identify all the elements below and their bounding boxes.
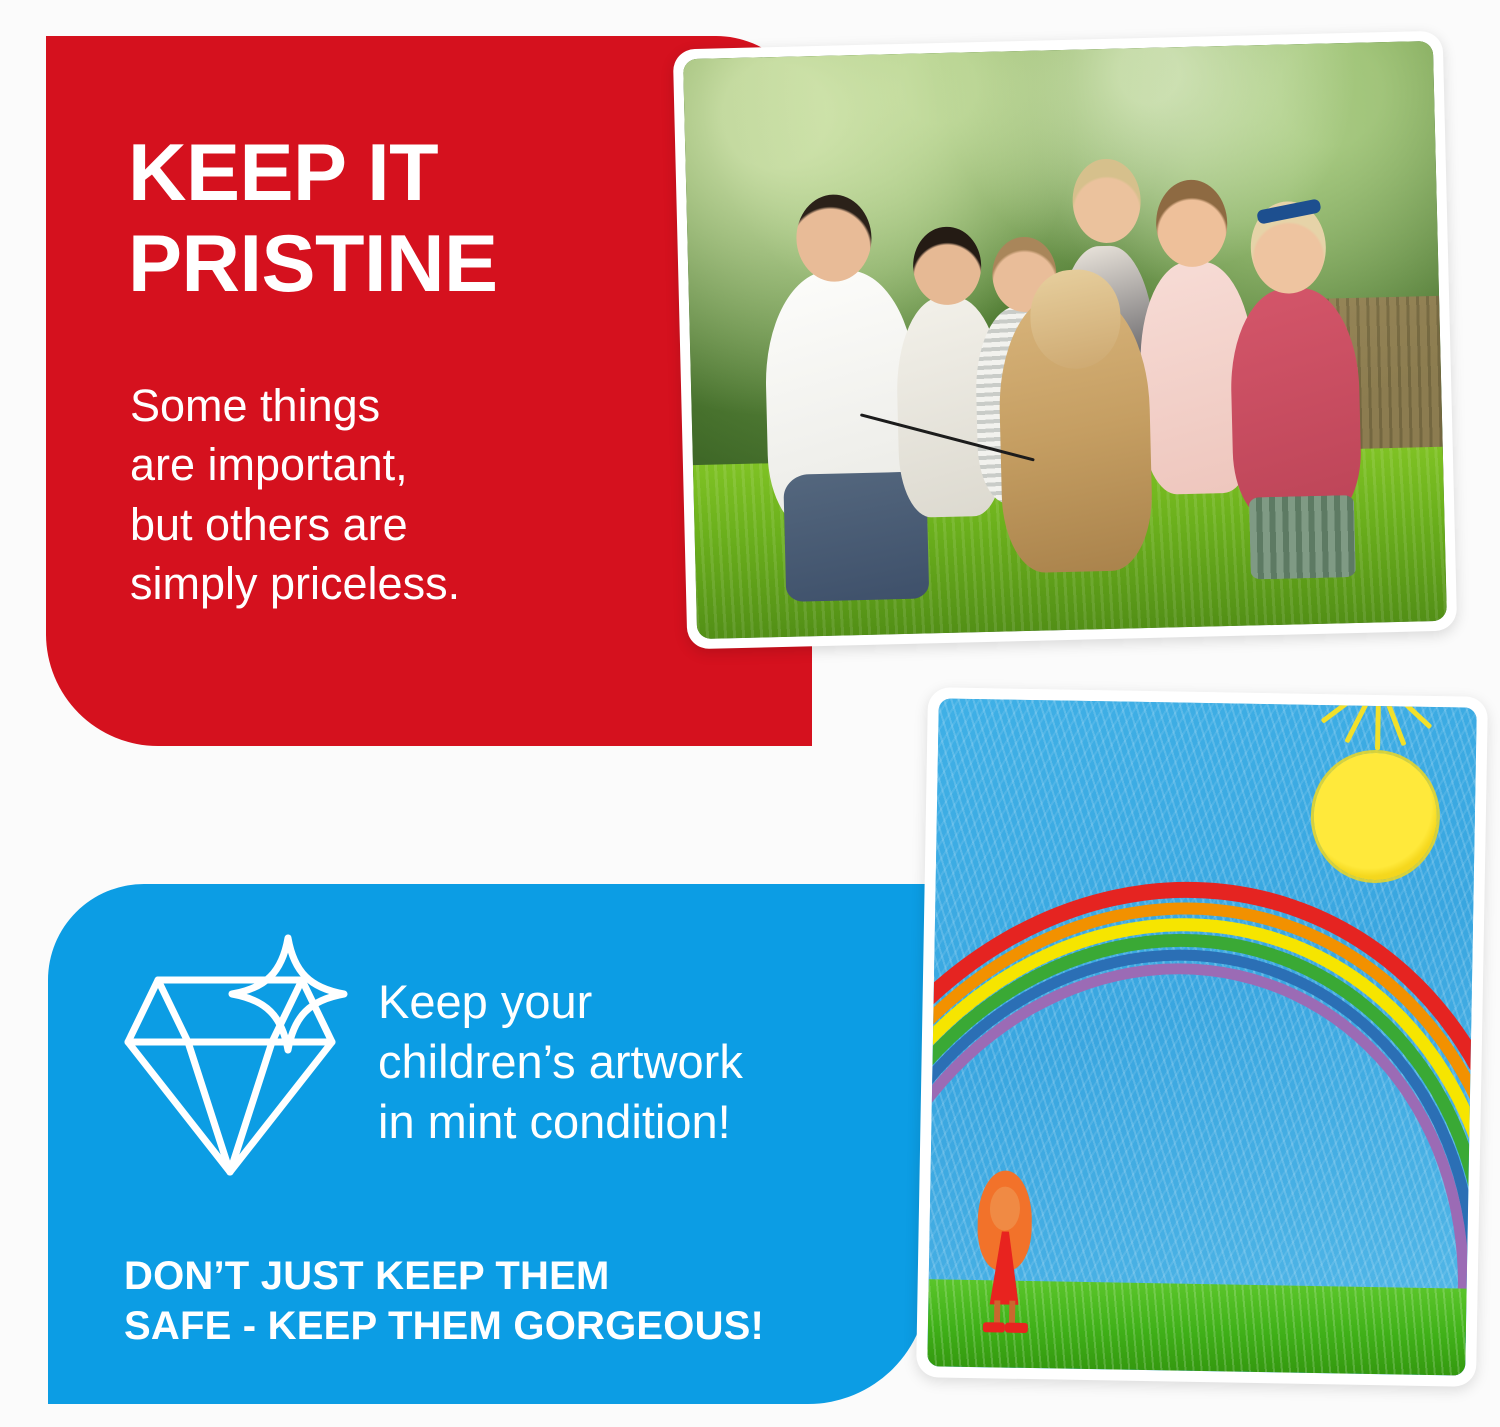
family-with-dog-photo <box>673 31 1457 650</box>
red-body-line-2: are important, <box>130 435 690 494</box>
infographic-page: KEEP IT PRISTINE Some things are importa… <box>0 0 1500 1427</box>
red-body-line-3: but others are <box>130 495 690 554</box>
drawing-girl-leg-left <box>994 1301 1000 1325</box>
red-headline-line-2: PRISTINE <box>128 219 748 310</box>
blue-body-copy: Keep your children’s artwork in mint con… <box>378 972 908 1152</box>
diamond-sparkle-icon <box>120 932 360 1182</box>
photo-person-young-girl <box>1229 286 1362 521</box>
red-body-line-4: simply priceless. <box>130 554 690 613</box>
red-body-line-1: Some things <box>130 376 690 435</box>
drawing-girl-shoe-left <box>983 1322 1006 1333</box>
blue-body-line-1: Keep your <box>378 972 908 1032</box>
childrens-crayon-drawing <box>916 687 1488 1387</box>
red-headline-line-1: KEEP IT <box>128 128 748 219</box>
blue-body-line-3: in mint condition! <box>378 1092 908 1152</box>
blue-promo-panel: Keep your children’s artwork in mint con… <box>48 884 928 1404</box>
blue-tagline-line-2: SAFE - KEEP THEM GORGEOUS! <box>124 1302 924 1352</box>
photo-image <box>683 41 1447 639</box>
red-headline: KEEP IT PRISTINE <box>128 128 748 309</box>
photo-plaid-shorts <box>1249 495 1356 579</box>
drawing-girl-leg-right <box>1009 1301 1015 1325</box>
red-body-copy: Some things are important, but others ar… <box>130 376 690 614</box>
blue-tagline-line-1: DON’T JUST KEEP THEM <box>124 1252 924 1302</box>
blue-tagline: DON’T JUST KEEP THEM SAFE - KEEP THEM GO… <box>124 1252 924 1351</box>
drawing-image <box>927 698 1477 1375</box>
blue-body-line-2: children’s artwork <box>378 1032 908 1092</box>
drawing-girl-shoe-right <box>1005 1322 1028 1333</box>
